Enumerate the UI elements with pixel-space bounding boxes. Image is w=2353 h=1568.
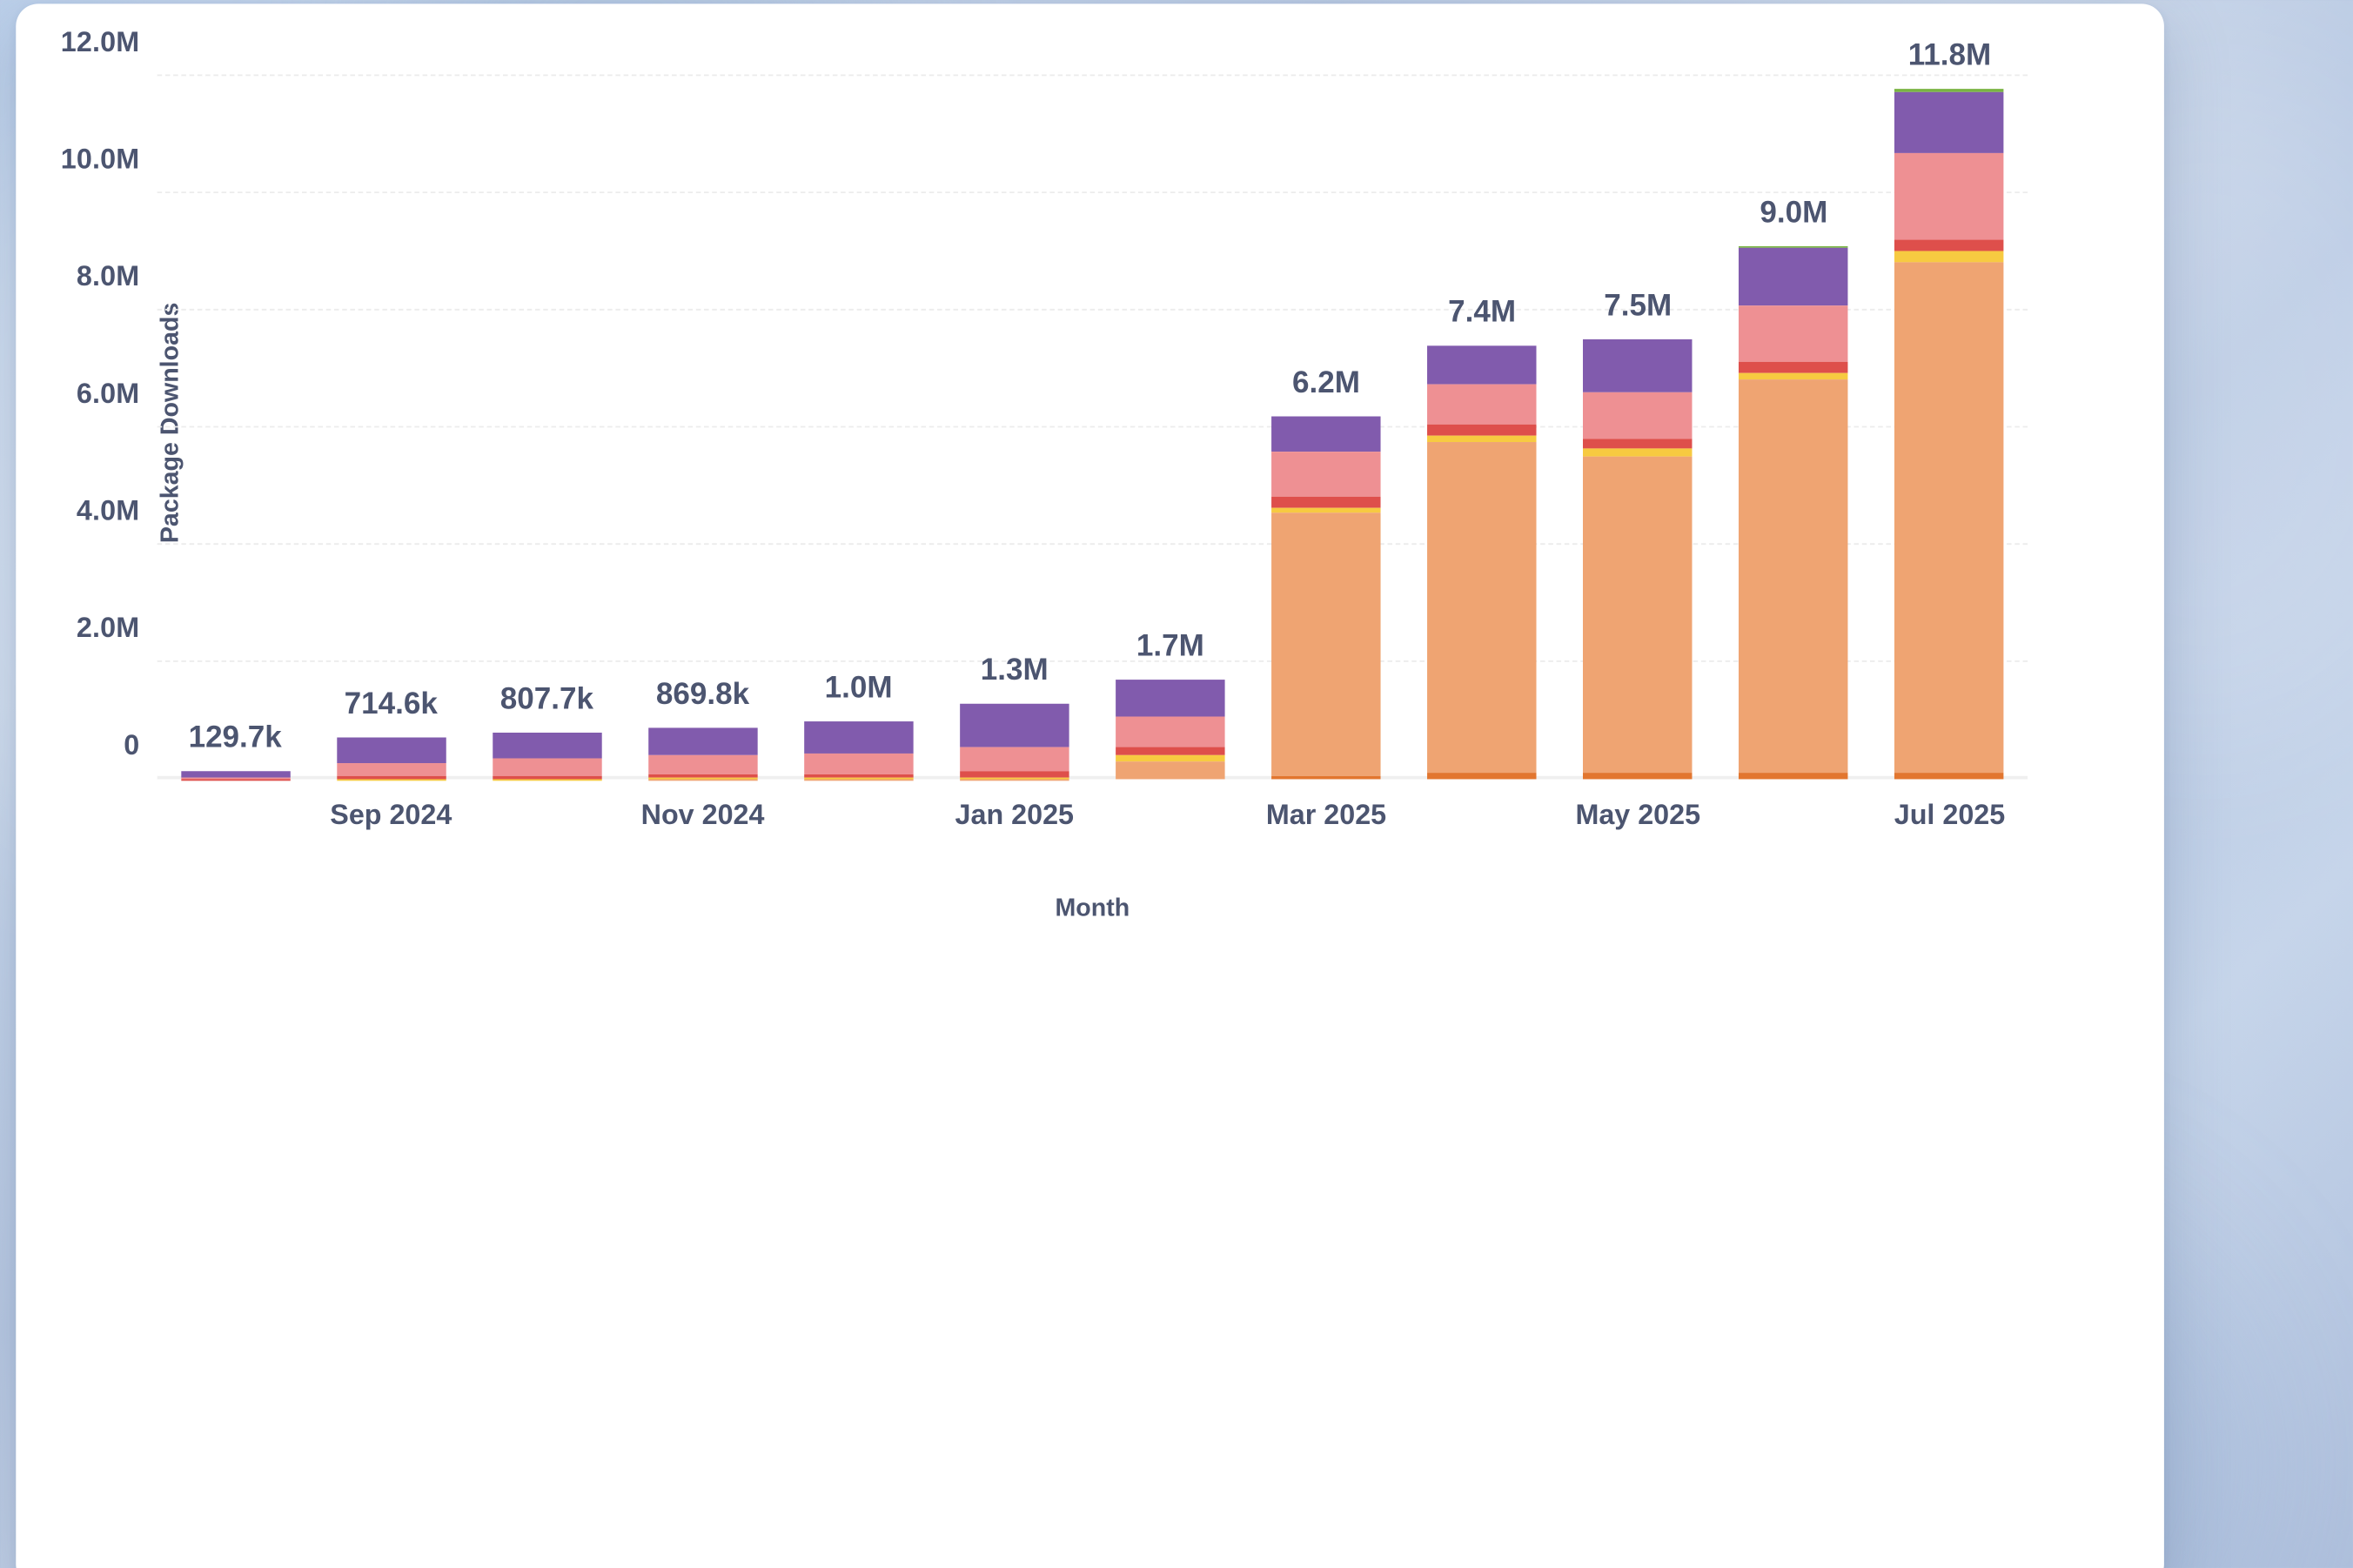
bar-value-label: 11.8M	[1908, 38, 1992, 74]
x-tick-label: Jul 2025	[1894, 799, 2005, 833]
bar-segment-salmon[interactable]	[648, 755, 757, 774]
bar-segment-orange[interactable]	[960, 779, 1069, 780]
bar-segment-salmon[interactable]	[1116, 716, 1224, 747]
bar-segment-yellow[interactable]	[1116, 754, 1224, 761]
bar-segment-orange[interactable]	[1584, 457, 1693, 773]
y-tick-label: 8.0M	[77, 260, 140, 294]
bar-stack[interactable]	[960, 703, 1069, 779]
x-tick-label: Mar 2025	[1266, 799, 1386, 833]
bar-segment-salmon[interactable]	[337, 763, 446, 775]
bar-group[interactable]: 7.5MMay 2025	[1584, 64, 1693, 779]
bar-segment-yellow[interactable]	[1584, 449, 1693, 457]
bar-segment-purple[interactable]	[1584, 340, 1693, 393]
bar-value-label: 1.7M	[1136, 630, 1204, 666]
bar-value-label: 807.7k	[500, 682, 593, 718]
x-tick-label: Sep 2024	[330, 799, 452, 833]
bar-stack[interactable]	[648, 728, 757, 779]
bar-stack[interactable]	[804, 720, 913, 779]
y-tick-label: 4.0M	[77, 494, 140, 528]
bar-segment-yellow[interactable]	[1740, 372, 1848, 380]
bar-segment-orange[interactable]	[1427, 442, 1536, 773]
bar-segment-salmon[interactable]	[1740, 305, 1848, 362]
bar-value-label: 1.0M	[825, 671, 893, 707]
bar-segment-purple[interactable]	[1427, 346, 1536, 385]
bar-segment-salmon[interactable]	[1427, 385, 1536, 425]
bar-segment-salmon[interactable]	[1895, 152, 2004, 239]
bar-group[interactable]: 807.7k	[493, 64, 601, 779]
bar-segment-purple[interactable]	[1116, 680, 1224, 716]
bar-segment-yellow[interactable]	[1427, 435, 1536, 442]
bar-stack[interactable]	[493, 732, 601, 779]
bar-group[interactable]: 9.0M	[1740, 64, 1848, 779]
bar-value-label: 9.0M	[1760, 197, 1827, 232]
bar-segment-purple[interactable]	[1740, 248, 1848, 305]
bar-stack[interactable]	[1427, 346, 1536, 780]
bar-segment-purple[interactable]	[648, 728, 757, 755]
bar-group[interactable]: 6.2MMar 2025	[1271, 64, 1380, 779]
bar-segment-purple[interactable]	[493, 732, 601, 758]
bar-stack[interactable]	[1116, 680, 1224, 779]
bar-segment-salmon[interactable]	[804, 754, 913, 774]
bar-segment-salmon[interactable]	[960, 747, 1069, 772]
bar-stack[interactable]	[1740, 246, 1848, 779]
bar-segment-red[interactable]	[1895, 239, 2004, 251]
x-axis-title: Month	[158, 895, 2028, 923]
bar-value-label: 6.2M	[1292, 366, 1360, 402]
bar-segment-dark-orange[interactable]	[1271, 775, 1380, 779]
bar-group[interactable]: 129.7k	[181, 64, 290, 779]
y-tick-label: 0	[124, 728, 139, 762]
bar-stack[interactable]	[337, 737, 446, 779]
bar-segment-dark-orange[interactable]	[1895, 772, 2004, 779]
bar-segment-salmon[interactable]	[1271, 452, 1380, 497]
bar-segment-yellow[interactable]	[1895, 251, 2004, 262]
bar-group[interactable]: 7.4M	[1427, 64, 1536, 779]
bar-segment-red[interactable]	[1427, 425, 1536, 434]
bar-value-label: 129.7k	[189, 722, 282, 758]
bar-stack[interactable]	[1584, 340, 1693, 780]
bar-segment-yellow[interactable]	[493, 779, 601, 780]
y-tick-label: 12.0M	[61, 26, 140, 60]
bar-value-label: 7.4M	[1448, 296, 1516, 332]
bar-segment-dark-orange[interactable]	[1427, 773, 1536, 779]
y-tick-label: 6.0M	[77, 378, 140, 412]
bar-segment-red[interactable]	[1740, 361, 1848, 372]
bar-value-label: 1.3M	[981, 653, 1049, 689]
bar-segment-red[interactable]	[1271, 497, 1380, 508]
bar-stack[interactable]	[181, 772, 290, 780]
bar-segment-purple[interactable]	[1271, 416, 1380, 452]
bar-segment-dark-orange[interactable]	[1740, 773, 1848, 780]
x-tick-label: Nov 2024	[641, 799, 765, 833]
bar-group[interactable]: 1.7M	[1116, 64, 1224, 779]
bar-group[interactable]: 869.8kNov 2024	[648, 64, 757, 779]
bar-group[interactable]: 1.3MJan 2025	[960, 64, 1069, 779]
bar-segment-purple[interactable]	[960, 703, 1069, 747]
bar-group[interactable]: 11.8MJul 2025	[1895, 64, 2004, 779]
bar-segment-orange[interactable]	[1116, 761, 1224, 780]
bar-segment-salmon[interactable]	[1584, 393, 1693, 439]
x-tick-label: Jan 2025	[955, 799, 1074, 833]
bar-segment-red[interactable]	[1584, 439, 1693, 449]
plot-area: Package Downloads 02.0M4.0M6.0M8.0M10.0M…	[158, 64, 2028, 779]
bar-value-label: 7.5M	[1604, 291, 1672, 326]
bar-value-label: 714.6k	[345, 687, 438, 723]
bar-segment-red[interactable]	[1116, 747, 1224, 754]
bars-layer: 129.7k714.6kSep 2024807.7k869.8kNov 2024…	[158, 64, 2028, 779]
bar-group[interactable]: 1.0M	[804, 64, 913, 779]
bar-segment-orange[interactable]	[1895, 262, 2004, 773]
bar-segment-orange[interactable]	[1740, 380, 1848, 773]
bar-stack[interactable]	[1271, 416, 1380, 779]
x-tick-label: May 2025	[1575, 799, 1700, 833]
bar-stack[interactable]	[1895, 88, 2004, 779]
chart-card: Package Downloads 02.0M4.0M6.0M8.0M10.0M…	[16, 3, 2164, 1568]
bar-segment-purple[interactable]	[1895, 91, 2004, 152]
bar-segment-orange[interactable]	[648, 779, 757, 780]
bar-value-label: 869.8k	[656, 679, 749, 714]
bar-segment-dark-orange[interactable]	[1584, 773, 1693, 779]
bar-group[interactable]: 714.6kSep 2024	[337, 64, 446, 779]
bar-segment-purple[interactable]	[804, 720, 913, 753]
y-tick-label: 2.0M	[77, 612, 140, 646]
bar-segment-purple[interactable]	[337, 737, 446, 763]
bar-segment-orange[interactable]	[804, 779, 913, 780]
y-tick-label: 10.0M	[61, 143, 140, 177]
bar-segment-salmon[interactable]	[493, 758, 601, 775]
bar-segment-orange[interactable]	[1271, 513, 1380, 775]
